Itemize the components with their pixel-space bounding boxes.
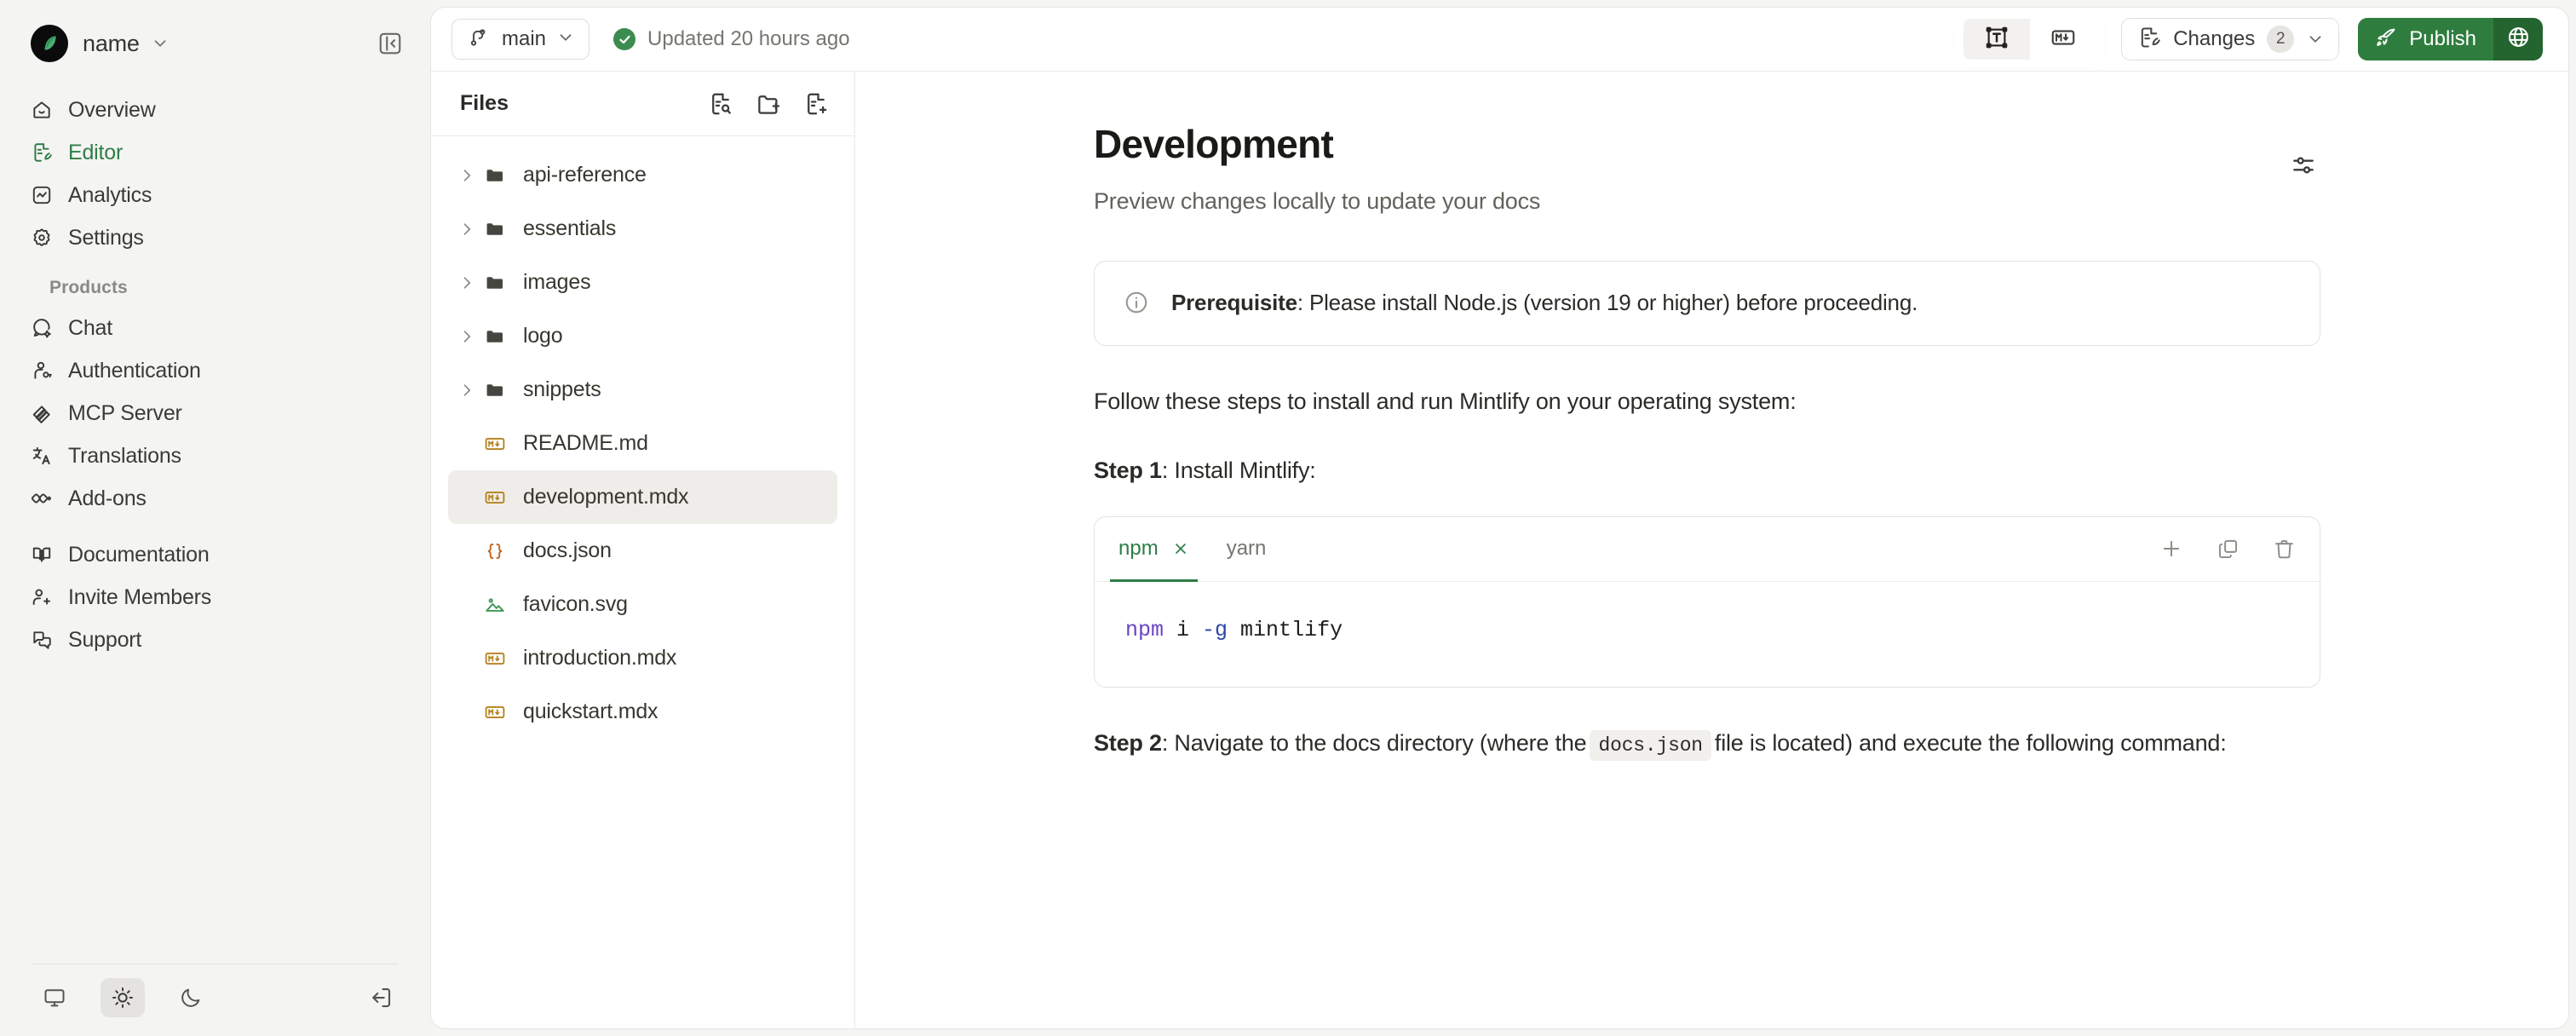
chevron-down-icon xyxy=(556,28,575,51)
file-name: docs.json xyxy=(523,538,612,563)
image-file-icon xyxy=(482,594,508,616)
code-block-actions xyxy=(2158,535,2297,562)
changes-count-badge: 2 xyxy=(2267,26,2294,53)
branch-name: main xyxy=(502,27,546,51)
publish-globe-button[interactable] xyxy=(2493,18,2543,60)
chevron-down-icon[interactable] xyxy=(151,34,170,53)
markdown-file-icon xyxy=(482,433,508,455)
intro-paragraph[interactable]: Follow these steps to install and run Mi… xyxy=(1094,385,2320,418)
view-toggle-group xyxy=(1958,13,2102,66)
globe-icon xyxy=(2506,25,2531,54)
sidebar-footer xyxy=(0,964,430,1036)
file-row[interactable]: quickstart.mdx xyxy=(448,685,837,739)
sidebar-item-label: Overview xyxy=(68,98,156,123)
step2-bold: Step 2 xyxy=(1094,730,1162,756)
chevron-right-icon[interactable] xyxy=(457,167,477,184)
files-list: api-reference essentials xyxy=(431,136,854,739)
folder-icon xyxy=(482,273,508,293)
sidebar-spacer xyxy=(0,661,430,964)
markdown-editor-toggle[interactable] xyxy=(2030,19,2096,60)
chevron-right-icon[interactable] xyxy=(457,382,477,399)
callout-text: Prerequisite: Please install Node.js (ve… xyxy=(1171,287,1918,318)
chevron-right-icon[interactable] xyxy=(457,274,477,291)
gear-icon xyxy=(31,227,53,249)
editor-split: Files xyxy=(431,72,2568,1028)
inline-code: docs.json xyxy=(1590,730,1711,761)
sidebar-item-documentation[interactable]: Documentation xyxy=(19,533,411,576)
sidebar-item-overview[interactable]: Overview xyxy=(19,89,411,131)
sidebar-item-chat[interactable]: Chat xyxy=(19,307,411,349)
main-panel: main Updated 20 hours ago xyxy=(430,7,2569,1029)
sidebar-item-settings[interactable]: Settings xyxy=(19,216,411,259)
chat-bubbles-icon xyxy=(31,629,53,651)
changes-button[interactable]: Changes 2 xyxy=(2121,18,2339,60)
close-icon[interactable] xyxy=(1172,540,1189,557)
callout-rest: : Please install Node.js (version 19 or … xyxy=(1297,290,1918,315)
book-icon xyxy=(31,544,53,566)
org-name[interactable]: name xyxy=(83,31,140,57)
sidebar-item-label: Editor xyxy=(68,141,123,165)
sidebar: name Overview xyxy=(0,0,430,1036)
update-status-text: Updated 20 hours ago xyxy=(647,27,850,51)
sidebar-item-label: Support xyxy=(68,628,141,653)
document-editor[interactable]: Development Preview changes locally to u… xyxy=(855,72,2568,1028)
sidebar-item-label: Add-ons xyxy=(68,486,147,511)
publish-button[interactable]: Publish xyxy=(2358,18,2493,60)
file-name: snippets xyxy=(523,377,601,402)
step1-paragraph[interactable]: Step 1: Install Mintlify: xyxy=(1094,454,2320,487)
code-block-tabs: npm yarn xyxy=(1095,517,2320,582)
file-name: essentials xyxy=(523,216,616,241)
file-search-icon[interactable] xyxy=(706,89,735,118)
code-tab-npm[interactable]: npm xyxy=(1115,516,1193,581)
sidebar-item-mcp-server[interactable]: MCP Server xyxy=(19,392,411,435)
code-tab-label: yarn xyxy=(1227,537,1267,561)
file-row[interactable]: favicon.svg xyxy=(448,578,837,631)
copy-icon[interactable] xyxy=(2214,535,2241,562)
code-token-plain: i xyxy=(1164,618,1202,642)
org-logo[interactable] xyxy=(31,25,68,62)
check-circle-icon xyxy=(613,28,635,50)
chevron-down-icon xyxy=(2306,30,2325,49)
code-tab-label: npm xyxy=(1118,537,1159,561)
sidebar-item-label: Documentation xyxy=(68,543,210,567)
file-row[interactable]: snippets xyxy=(448,363,837,417)
prerequisite-callout[interactable]: Prerequisite: Please install Node.js (ve… xyxy=(1094,261,2320,346)
file-row[interactable]: development.mdx xyxy=(448,470,837,524)
file-edit-icon xyxy=(2137,26,2161,54)
code-token-plain: mintlify xyxy=(1228,618,1343,642)
leaf-logo-icon xyxy=(38,32,60,55)
files-actions xyxy=(706,89,831,118)
sidebar-item-label: Translations xyxy=(68,444,181,469)
theme-light-button[interactable] xyxy=(101,978,145,1017)
files-header: Files xyxy=(431,72,854,136)
plus-icon[interactable] xyxy=(2158,535,2185,562)
top-toolbar: main Updated 20 hours ago xyxy=(431,8,2568,72)
step2-paragraph[interactable]: Step 2: Navigate to the docs directory (… xyxy=(1094,727,2320,760)
sidebar-item-label: Settings xyxy=(68,226,144,250)
callout-bold: Prerequisite xyxy=(1171,290,1297,315)
file-row[interactable]: docs.json xyxy=(448,524,837,578)
toolbar-right: Changes 2 xyxy=(1958,13,2543,66)
sidebar-item-analytics[interactable]: Analytics xyxy=(19,174,411,216)
nav-spacer xyxy=(19,520,411,533)
file-name: images xyxy=(523,270,590,295)
file-name: introduction.mdx xyxy=(523,646,676,671)
file-row[interactable]: introduction.mdx xyxy=(448,631,837,685)
sidebar-item-support[interactable]: Support xyxy=(19,619,411,661)
chevron-right-icon[interactable] xyxy=(457,328,477,345)
file-plus-icon[interactable] xyxy=(802,89,831,118)
file-name: development.mdx xyxy=(523,485,688,509)
folder-icon xyxy=(482,219,508,239)
logout-icon[interactable] xyxy=(364,981,398,1015)
translate-icon xyxy=(31,445,53,467)
puzzle-diamond-icon xyxy=(31,487,53,509)
folder-icon xyxy=(482,326,508,347)
sliders-icon[interactable] xyxy=(2286,148,2320,182)
code-token-flag: -g xyxy=(1202,618,1228,642)
file-name: api-reference xyxy=(523,163,647,187)
sidebar-item-label: Analytics xyxy=(68,183,152,208)
folder-plus-icon[interactable] xyxy=(754,89,783,118)
file-name: favicon.svg xyxy=(523,592,628,617)
trash-icon[interactable] xyxy=(2270,535,2297,562)
file-row[interactable]: images xyxy=(448,256,837,309)
markdown-file-icon xyxy=(482,701,508,723)
sidebar-nav-main: Overview Editor Analyt xyxy=(0,65,430,661)
files-panel: Files xyxy=(431,72,855,1028)
chat-sparkle-icon xyxy=(31,317,53,339)
sidebar-item-label: MCP Server xyxy=(68,401,182,426)
markdown-icon xyxy=(2050,25,2076,55)
update-status: Updated 20 hours ago xyxy=(613,27,850,51)
step2-part1: : Navigate to the docs directory (where … xyxy=(1162,730,1587,756)
panel-collapse-icon[interactable] xyxy=(376,29,405,58)
theme-system-button[interactable] xyxy=(32,978,77,1017)
lock-user-icon xyxy=(31,360,53,382)
code-tab-yarn[interactable]: yarn xyxy=(1223,516,1270,581)
code-block[interactable]: npm yarn xyxy=(1094,516,2320,688)
app-root: name Overview xyxy=(0,0,2576,1036)
sidebar-item-translations[interactable]: Translations xyxy=(19,435,411,477)
file-row[interactable]: README.md xyxy=(448,417,837,470)
sidebar-item-editor[interactable]: Editor xyxy=(19,131,411,174)
markdown-file-icon xyxy=(482,486,508,509)
layers-icon xyxy=(31,402,53,424)
changes-label: Changes xyxy=(2173,27,2255,51)
file-edit-icon xyxy=(31,141,53,164)
info-icon xyxy=(1124,290,1149,319)
sidebar-item-authentication[interactable]: Authentication xyxy=(19,349,411,392)
step2-part2: file is located) and execute the followi… xyxy=(1715,730,2227,756)
home-icon xyxy=(31,99,53,121)
folder-icon xyxy=(482,165,508,186)
sidebar-item-label: Authentication xyxy=(68,359,201,383)
file-row[interactable]: logo xyxy=(448,309,837,363)
code-content[interactable]: npm i -g mintlify xyxy=(1095,582,2320,687)
rocket-icon xyxy=(2373,26,2397,54)
text-frame-icon xyxy=(1984,25,2010,55)
sidebar-section-products: Products xyxy=(19,259,411,307)
sidebar-item-invite-members[interactable]: Invite Members xyxy=(19,576,411,619)
file-row[interactable]: essentials xyxy=(448,202,837,256)
folder-icon xyxy=(482,380,508,400)
sidebar-item-label: Chat xyxy=(68,316,112,341)
markdown-file-icon xyxy=(482,647,508,670)
chart-box-icon xyxy=(31,184,53,206)
files-title: Files xyxy=(460,91,509,116)
file-name: quickstart.mdx xyxy=(523,699,658,724)
sidebar-item-add-ons[interactable]: Add-ons xyxy=(19,477,411,520)
file-name: README.md xyxy=(523,431,648,456)
page-title[interactable]: Development xyxy=(1094,123,2320,166)
git-branch-icon xyxy=(468,26,490,53)
visual-editor-toggle[interactable] xyxy=(1964,19,2030,60)
chevron-right-icon[interactable] xyxy=(457,221,477,238)
publish-button-group: Publish xyxy=(2358,18,2543,60)
user-plus-icon xyxy=(31,586,53,608)
file-row[interactable]: api-reference xyxy=(448,148,837,202)
page-subtitle[interactable]: Preview changes locally to update your d… xyxy=(1094,188,2320,215)
step1-bold: Step 1 xyxy=(1094,458,1162,483)
sidebar-item-label: Invite Members xyxy=(68,585,211,610)
theme-dark-button[interactable] xyxy=(169,978,213,1017)
publish-label: Publish xyxy=(2409,27,2476,51)
step1-rest: : Install Mintlify: xyxy=(1162,458,1316,483)
json-file-icon xyxy=(482,540,508,562)
sidebar-header: name xyxy=(0,0,430,65)
file-name: logo xyxy=(523,324,562,348)
code-token-keyword: npm xyxy=(1125,618,1164,642)
branch-selector[interactable]: main xyxy=(451,19,589,60)
